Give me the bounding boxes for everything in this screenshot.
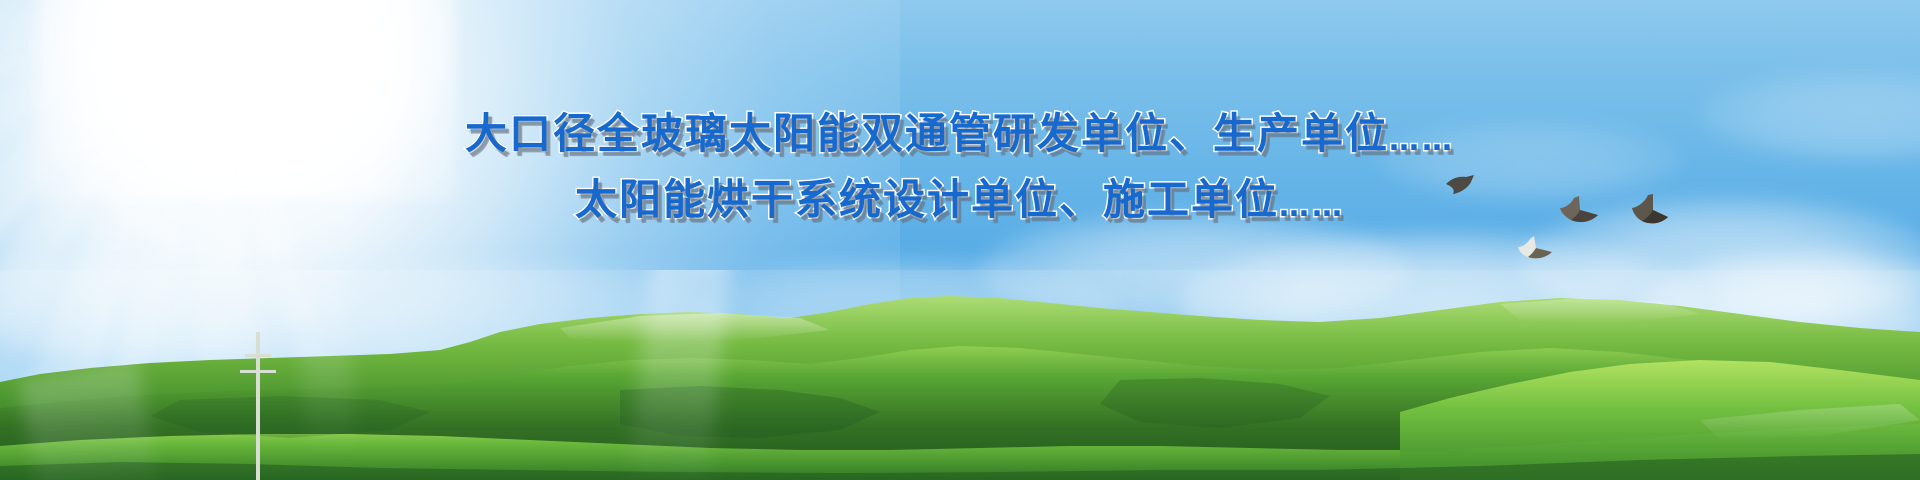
green-hills xyxy=(0,270,1920,480)
headline-line-1-text: 大口径全玻璃太阳能双通管研发单位、生产单位 xyxy=(465,100,1389,161)
utility-pole-crossarm xyxy=(245,354,271,357)
headline-line-1: 大口径全玻璃太阳能双通管研发单位、生产单位…… xyxy=(0,100,1920,161)
utility-pole-crossarm xyxy=(240,370,276,373)
flying-bird-icon xyxy=(1518,236,1560,262)
headline-line-2: 太阳能烘干系统设计单位、施工单位…… xyxy=(0,166,1920,227)
headline-line-1-ellipsis: …… xyxy=(1389,123,1455,158)
headline-line-2-ellipsis: …… xyxy=(1279,189,1345,224)
headline-line-2-text: 太阳能烘干系统设计单位、施工单位 xyxy=(575,166,1279,227)
hero-banner: 大口径全玻璃太阳能双通管研发单位、生产单位…… 太阳能烘干系统设计单位、施工单位… xyxy=(0,0,1920,480)
hills-silhouette xyxy=(0,270,1920,480)
